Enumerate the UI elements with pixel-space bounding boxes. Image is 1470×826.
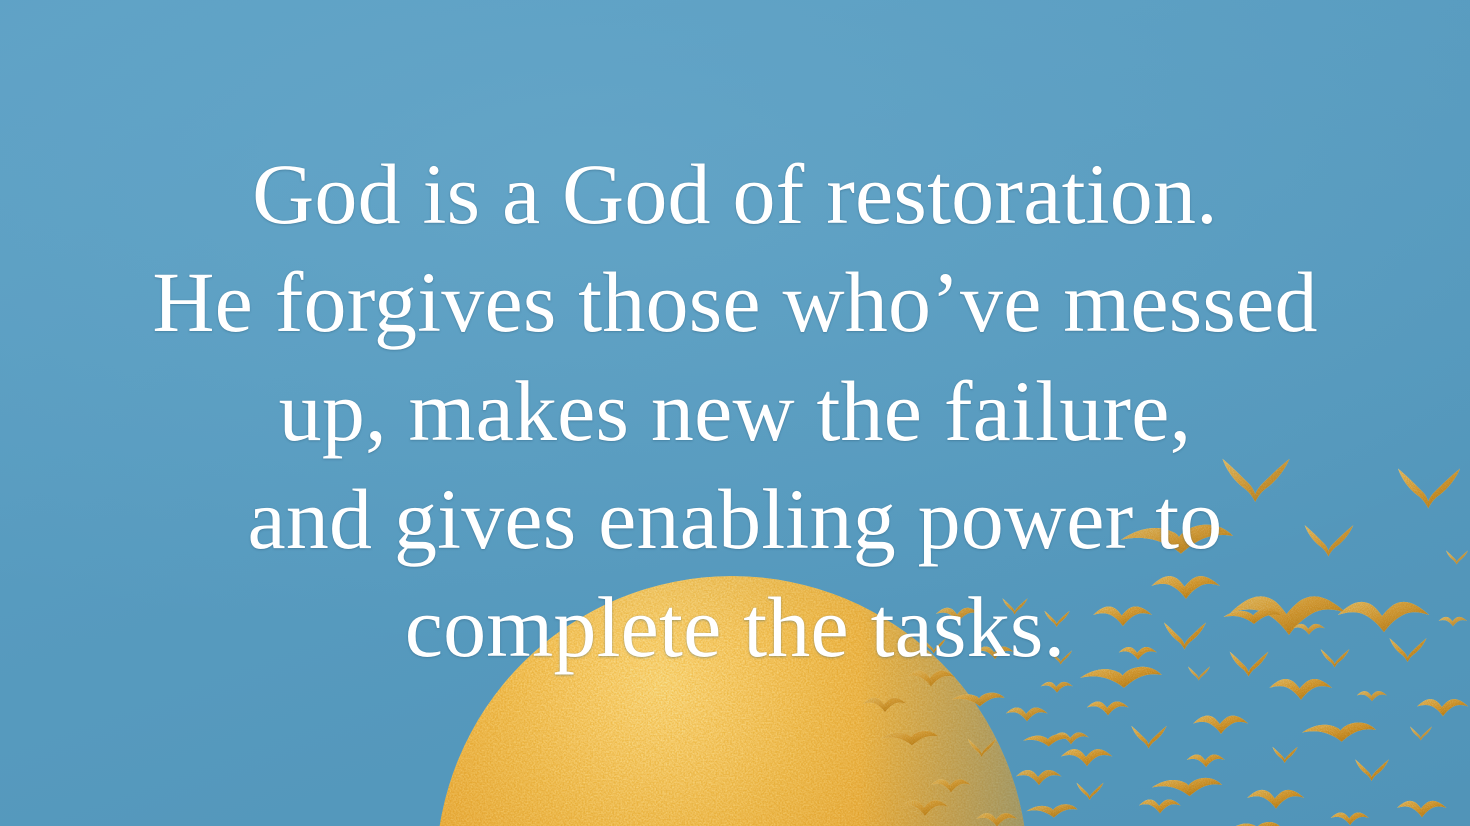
- quote-poster: God is a God of restoration. He forgives…: [0, 0, 1470, 826]
- background-fill: [0, 0, 1470, 826]
